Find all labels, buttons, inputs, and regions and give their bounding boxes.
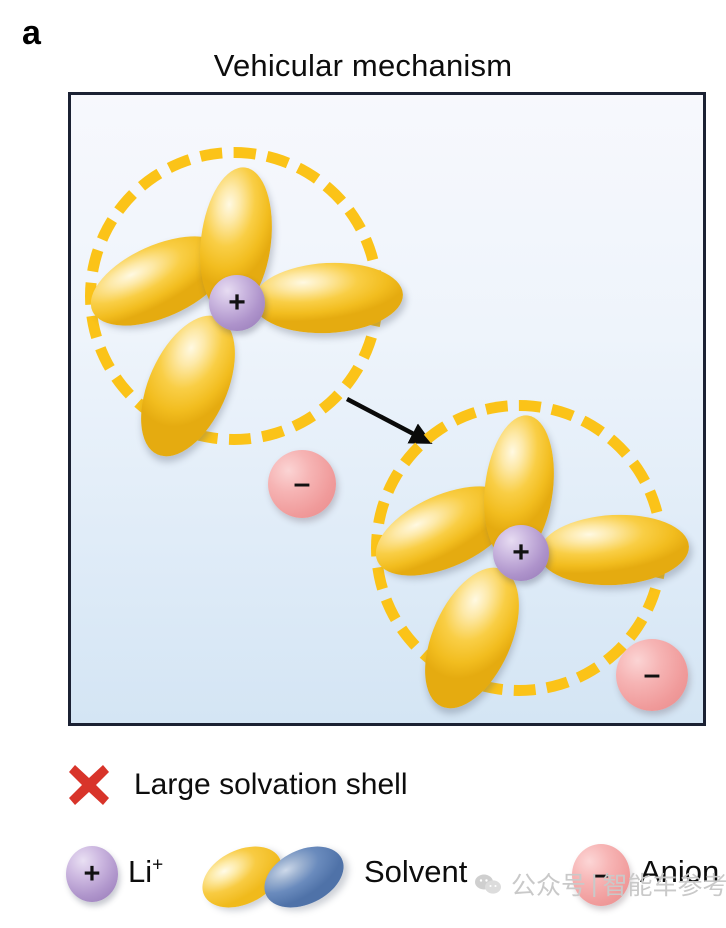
legend-cation-text: Li xyxy=(128,854,152,889)
lithium-cation: + xyxy=(209,275,265,331)
legend-row-shell: Large solvation shell xyxy=(66,762,408,808)
legend-solvent-blue-swatch xyxy=(254,834,353,919)
legend-cation-swatch: + xyxy=(66,846,118,902)
lithium-cation: + xyxy=(493,525,549,581)
legend-solvent-label: Solvent xyxy=(364,854,467,890)
legend-cation-label: Li+ xyxy=(128,854,163,890)
legend-shell-label: Large solvation shell xyxy=(134,768,408,802)
legend: Large solvation shell + Li+ Solvent – An… xyxy=(0,752,726,928)
legend-cation-charge: + xyxy=(152,855,163,876)
legend-anion-label: Anion xyxy=(640,854,719,890)
panel-label: a xyxy=(22,16,41,50)
legend-row-species: + Li+ Solvent – Anion xyxy=(66,838,726,924)
figure-title: Vehicular mechanism xyxy=(0,48,726,84)
red-cross-icon xyxy=(66,762,112,808)
illustration-panel: + – + – xyxy=(68,92,706,726)
anion-bottom: – xyxy=(616,639,688,711)
legend-anion-swatch: – xyxy=(572,844,630,906)
anion-free: – xyxy=(268,450,336,518)
